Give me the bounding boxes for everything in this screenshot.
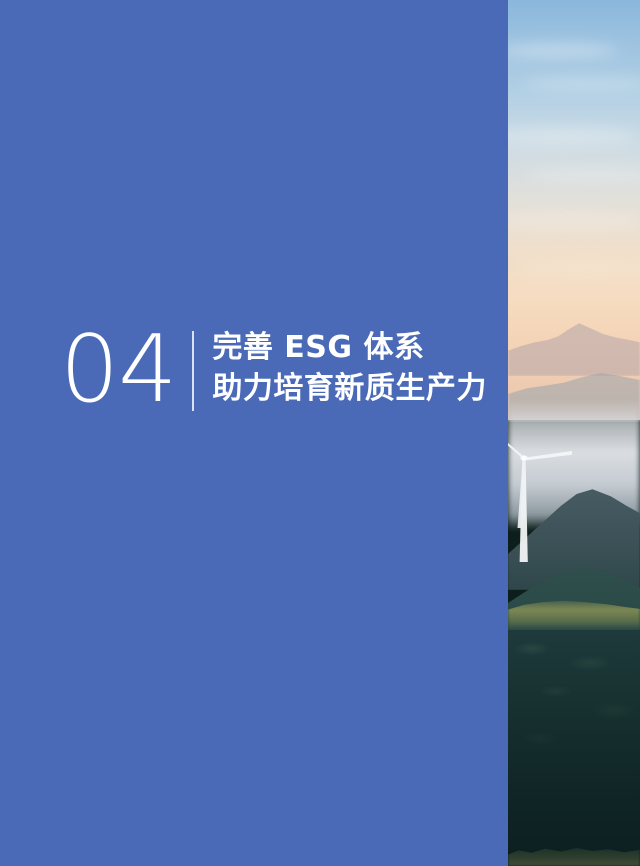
wind-turbine-icon xyxy=(508,0,640,866)
sunrise-landscape-photo xyxy=(508,0,640,866)
section-heading-group: 完善 ESG 体系 助力培育新质生产力 xyxy=(212,326,487,409)
title-divider xyxy=(192,331,194,411)
section-heading-line-1: 完善 ESG 体系 xyxy=(212,327,487,368)
section-divider-slide: 04 完善 ESG 体系 助力培育新质生产力 xyxy=(0,0,640,866)
section-title-block: 04 完善 ESG 体系 助力培育新质生产力 xyxy=(60,326,487,412)
section-heading-line-2: 助力培育新质生产力 xyxy=(212,368,487,409)
section-number: 04 xyxy=(60,326,176,412)
